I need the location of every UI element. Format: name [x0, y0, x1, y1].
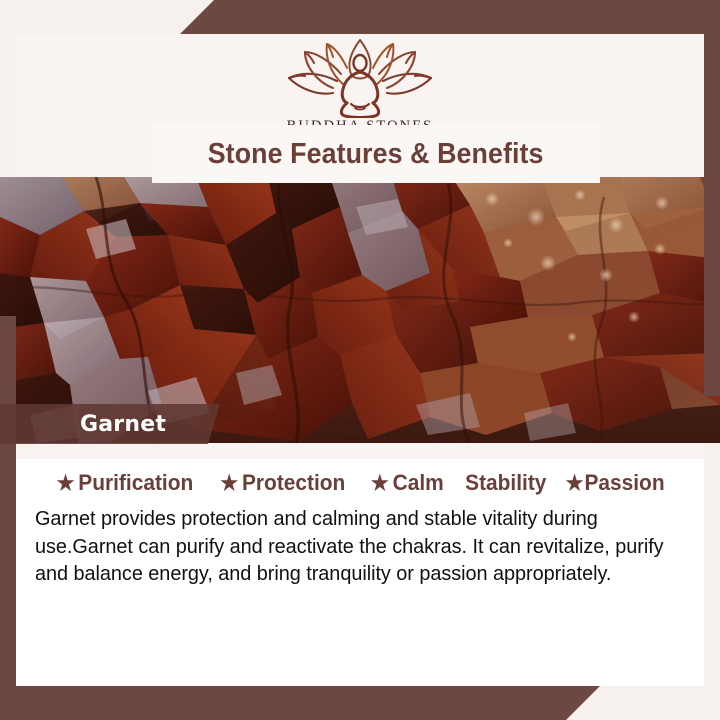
content-top-strip: [16, 443, 704, 459]
garnet-crystal-cluster-photo: [0, 177, 720, 443]
content-panel: ★ Purification ★ Protection ★ Calm Stabi…: [16, 443, 704, 686]
benefit-item-purification: ★ Purification: [57, 470, 194, 496]
benefit-label: Passion: [584, 470, 664, 496]
decorative-band-top: [180, 0, 720, 34]
title-plate: Stone Features & Benefits: [152, 125, 600, 183]
benefit-item-stability: Stability: [465, 470, 546, 496]
infographic-card: BUDDHA STONES Stone Features & Benefits: [0, 0, 720, 720]
benefit-label: Protection: [242, 470, 345, 496]
decorative-edge-left: [0, 316, 16, 720]
lotus-meditation-icon: [275, 38, 445, 116]
benefits-list: ★ Purification ★ Protection ★ Calm Stabi…: [16, 459, 704, 498]
benefit-label: Stability: [465, 470, 546, 496]
star-icon: ★: [370, 473, 388, 494]
star-icon: ★: [57, 473, 75, 494]
benefit-item-passion: ★ Passion: [565, 470, 664, 496]
stone-name: Garnet: [80, 412, 166, 437]
stone-name-banner: Garnet: [0, 404, 220, 444]
benefit-item-protection: ★ Protection: [220, 470, 345, 496]
page-title: Stone Features & Benefits: [208, 138, 544, 171]
benefit-label: Purification: [78, 470, 193, 496]
decorative-edge-right: [704, 0, 720, 396]
star-icon: ★: [565, 473, 583, 494]
benefit-item-calm: ★ Calm: [370, 470, 443, 496]
decorative-band-bottom: [0, 686, 600, 720]
star-icon: ★: [220, 473, 238, 494]
stone-description: Garnet provides protection and calming a…: [35, 505, 666, 588]
benefit-label: Calm: [392, 470, 443, 496]
